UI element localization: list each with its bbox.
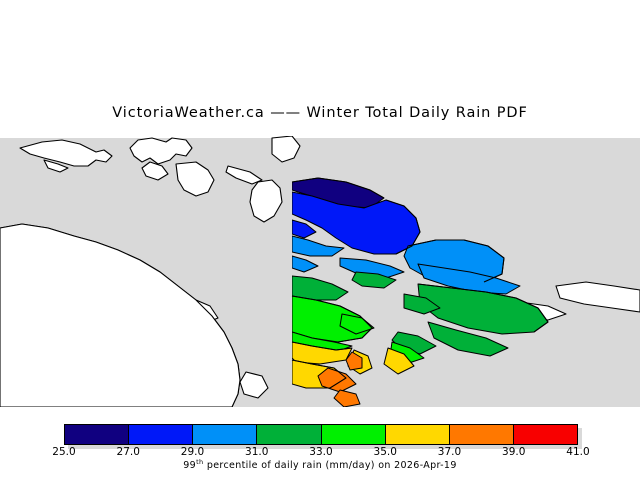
map-canvas[interactable] xyxy=(0,136,640,407)
colorbar-band-3 xyxy=(257,425,321,444)
tick-label-4: 33.0 xyxy=(309,446,332,458)
colorbar-band-6 xyxy=(450,425,514,444)
tick-label-7: 39.0 xyxy=(502,446,525,458)
caption-prefix: 99 xyxy=(183,460,196,471)
colorbar-band-7 xyxy=(514,425,577,444)
page-title: VictoriaWeather.ca —— Winter Total Daily… xyxy=(0,105,640,121)
caption-suffix: percentile of daily rain (mm/day) on 202… xyxy=(203,460,456,471)
colorbar-band-2 xyxy=(193,425,257,444)
map-panel[interactable] xyxy=(0,136,640,407)
weather-map-page: VictoriaWeather.ca —— Winter Total Daily… xyxy=(0,0,640,480)
tick-label-5: 35.0 xyxy=(374,446,397,458)
colorbar-band-1 xyxy=(129,425,193,444)
tick-label-8: 41.0 xyxy=(566,446,589,458)
tick-label-3: 31.0 xyxy=(245,446,268,458)
tick-label-6: 37.0 xyxy=(438,446,461,458)
colorbar-band-0 xyxy=(65,425,129,444)
colorbar-bands[interactable] xyxy=(64,424,578,445)
colorbar-caption: 99th percentile of daily rain (mm/day) o… xyxy=(0,458,640,471)
tick-label-0: 25.0 xyxy=(52,446,75,458)
tick-label-2: 29.0 xyxy=(181,446,204,458)
colorbar-band-4 xyxy=(322,425,386,444)
colorbar[interactable] xyxy=(64,424,578,445)
colorbar-band-5 xyxy=(386,425,450,444)
tick-label-1: 27.0 xyxy=(117,446,140,458)
